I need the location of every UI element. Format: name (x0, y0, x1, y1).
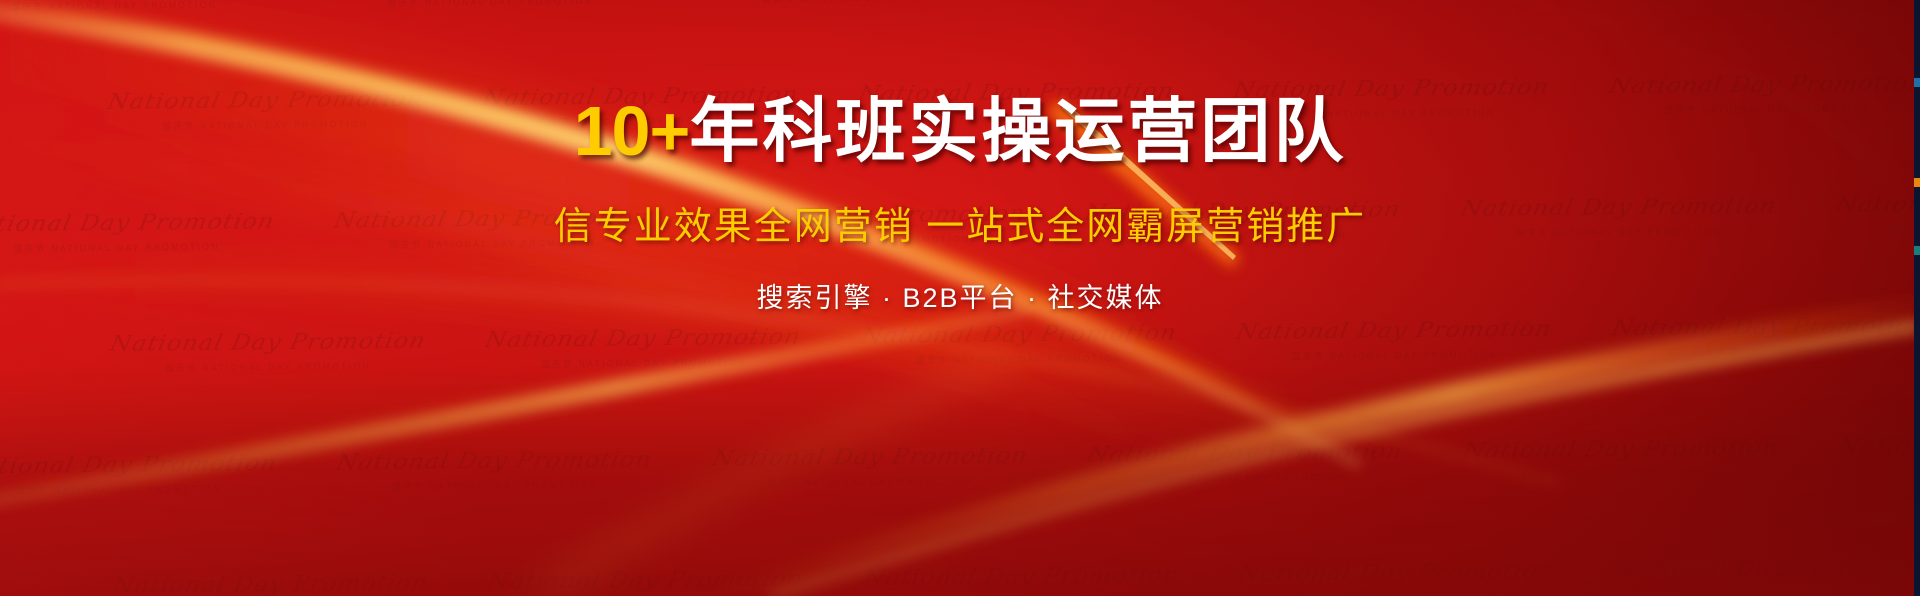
subline: 信专业效果全网营销 一站式全网霸屏营销推广 (0, 195, 1920, 250)
headline-text: 年科班实操运营团队 (689, 92, 1346, 170)
headline: 10+年科班实操运营团队 (0, 95, 1920, 169)
tagline: 搜索引擎 · B2B平台 · 社交媒体 (0, 276, 1920, 315)
banner-content: 10+年科班实操运营团队 信专业效果全网营销 一站式全网霸屏营销推广 搜索引擎 … (0, 95, 1920, 315)
right-edge-strip[interactable] (1914, 0, 1920, 596)
promo-banner: National Day Promotion国庆节 NATIONAL DAY P… (0, 0, 1920, 596)
edge-pip-teal (1914, 246, 1920, 255)
edge-pip-blue (1914, 78, 1920, 87)
background-bottom-shade (0, 366, 1920, 596)
edge-pip-orange (1914, 178, 1920, 187)
headline-highlight: 10+ (574, 92, 690, 170)
